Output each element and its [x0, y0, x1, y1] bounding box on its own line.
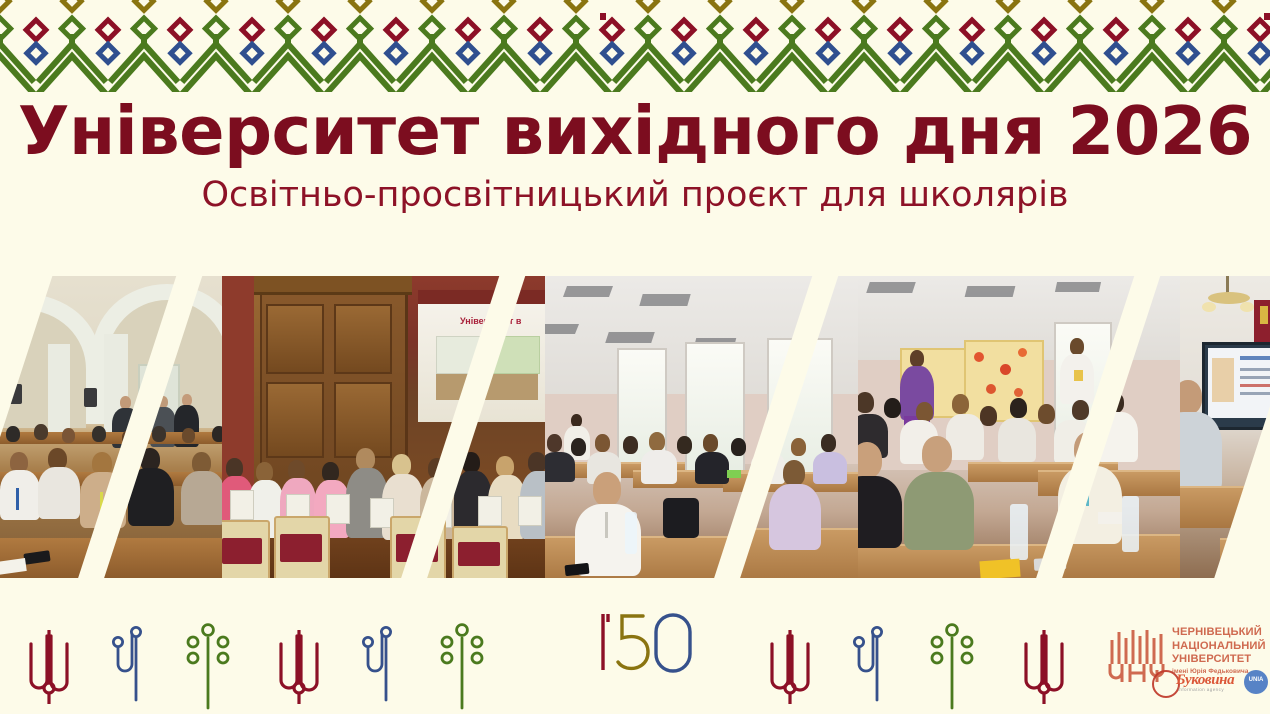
- icon-pin-2: [363, 627, 390, 700]
- icon-pin-1: [113, 627, 140, 700]
- icon-flower-dots-1: [188, 625, 228, 708]
- icon-flower-dots-2: [442, 625, 482, 708]
- anniversary-digit-5: [618, 616, 648, 668]
- university-name-line-2: НАЦІОНАЛЬНИЙ: [1172, 640, 1268, 654]
- gallery-photo-3: [545, 276, 875, 578]
- ornament-border-top: [0, 0, 1270, 92]
- poster-canvas: Університет вихідного дня 2026 Освітньо-…: [0, 0, 1270, 714]
- page-title: Університет вихідного дня 2026: [0, 96, 1270, 166]
- icon-plant-trident-3: [772, 630, 808, 704]
- icon-flower-dots-3: [932, 625, 972, 708]
- university-name-line-1: ЧЕРНІВЕЦЬКИЙ: [1172, 626, 1268, 640]
- title-block: Університет вихідного дня 2026 Освітньо-…: [0, 96, 1270, 216]
- anniversary-digit-0: [656, 615, 690, 671]
- photo-gallery-strip: Університет в: [0, 276, 1270, 578]
- icon-plant-trident-4: [1026, 630, 1062, 704]
- gallery-photo-2: Університет в: [222, 276, 562, 578]
- page-subtitle: Освітньо-просвітницький проєкт для школя…: [0, 175, 1270, 215]
- watermark-subtext: information agency: [1178, 687, 1224, 692]
- agency-watermark: Буковина information agency UNIA: [1152, 668, 1268, 698]
- watermark-badge-icon: UNIA: [1244, 670, 1268, 694]
- icon-pin-3: [854, 627, 881, 700]
- anniversary-digit-1: [603, 614, 608, 670]
- icon-plant-trident-2: [281, 630, 317, 704]
- university-name-line-3: УНІВЕРСИТЕТ: [1172, 653, 1268, 667]
- icon-plant-trident-1: [31, 630, 67, 704]
- anniversary-150-mark: [594, 608, 698, 680]
- watermark-badge-label: UNIA: [1244, 677, 1268, 683]
